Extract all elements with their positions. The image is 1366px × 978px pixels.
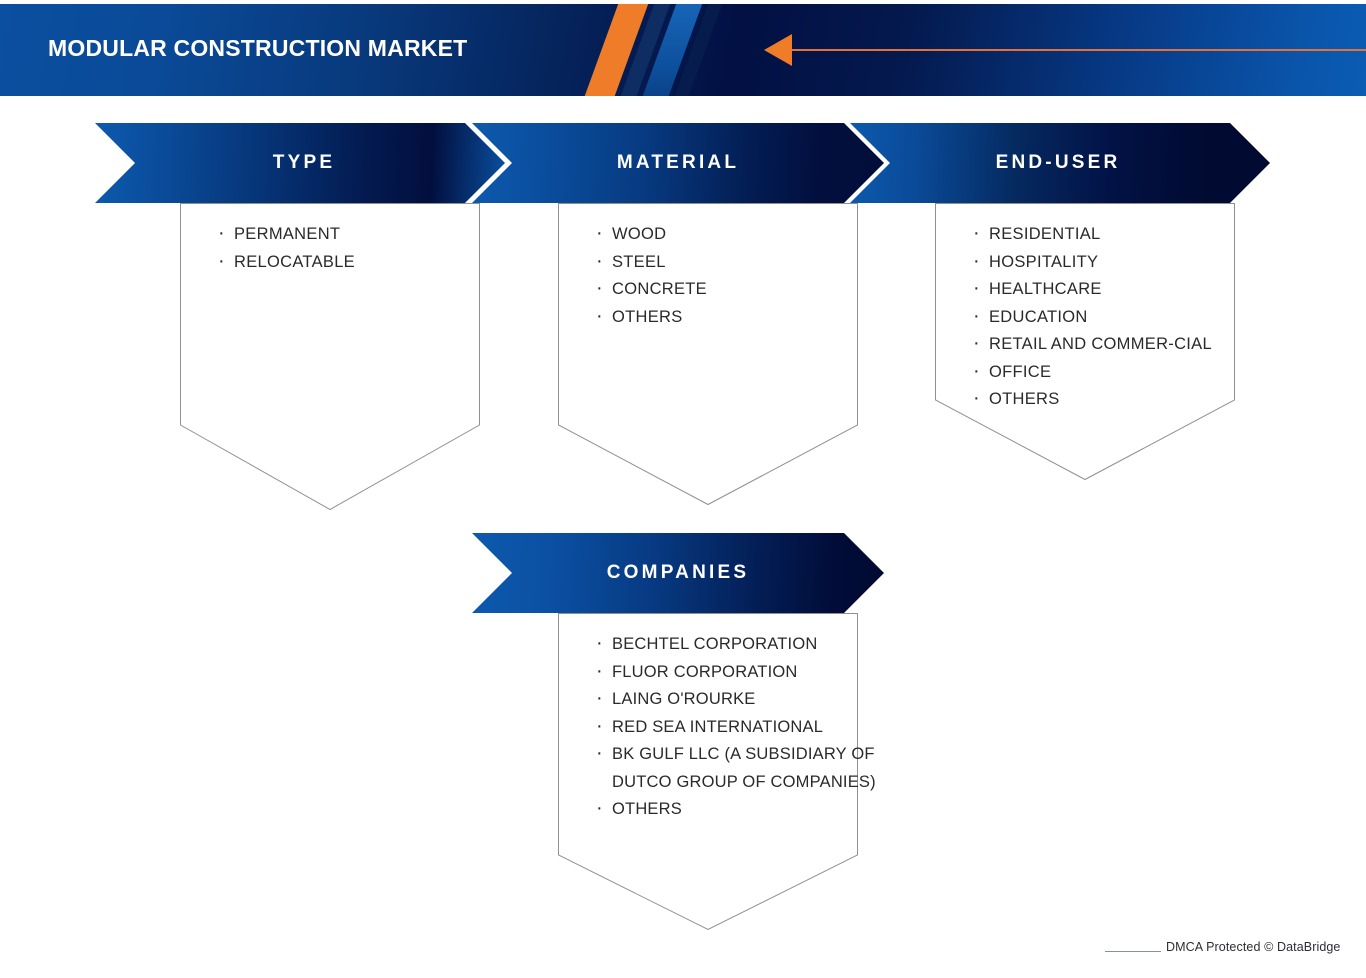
- list-item: HOSPITALITY: [967, 249, 1267, 277]
- header-accent-line: [790, 49, 1366, 51]
- page-title: MODULAR CONSTRUCTION MARKET: [48, 35, 467, 62]
- chevron-label-companies: COMPANIES: [607, 562, 749, 584]
- list-item: BK GULF LLC (A SUBSIDIARY OF DUTCO GROUP…: [590, 741, 890, 796]
- segment-list-end-user: RESIDENTIALHOSPITALITYHEALTHCAREEDUCATIO…: [967, 221, 1267, 414]
- list-item: OTHERS: [590, 796, 890, 824]
- list-item: RESIDENTIAL: [967, 221, 1267, 249]
- chevron-banner-companies[interactable]: COMPANIES: [472, 533, 884, 613]
- list-item: OFFICE: [967, 359, 1267, 387]
- list-item: CONCRETE: [590, 276, 890, 304]
- chevron-banner-type[interactable]: TYPE: [95, 123, 505, 203]
- segment-box-companies: BECHTEL CORPORATIONFLUOR CORPORATIONLAIN…: [558, 613, 858, 930]
- list-item: OTHERS: [590, 304, 890, 332]
- list-item: LAING O'ROURKE: [590, 686, 890, 714]
- segment-list-type: PERMANENTRELOCATABLE: [212, 221, 512, 276]
- footer-copyright: DMCA Protected © DataBridge: [1166, 940, 1340, 954]
- chevron-label-type: TYPE: [273, 152, 335, 174]
- list-item: OTHERS: [967, 386, 1267, 414]
- list-item: RETAIL AND COMMER-CIAL: [967, 331, 1267, 359]
- segment-box-material: WOODSTEELCONCRETEOTHERS: [558, 203, 858, 505]
- segment-box-type: PERMANENTRELOCATABLE: [180, 203, 480, 510]
- list-item: BECHTEL CORPORATION: [590, 631, 890, 659]
- list-item: EDUCATION: [967, 304, 1267, 332]
- chevron-label-material: MATERIAL: [617, 152, 739, 174]
- segment-box-end-user: RESIDENTIALHOSPITALITYHEALTHCAREEDUCATIO…: [935, 203, 1235, 480]
- list-item: RELOCATABLE: [212, 249, 512, 277]
- list-item: STEEL: [590, 249, 890, 277]
- list-item: PERMANENT: [212, 221, 512, 249]
- list-item: RED SEA INTERNATIONAL: [590, 714, 890, 742]
- segment-list-material: WOODSTEELCONCRETEOTHERS: [590, 221, 890, 331]
- left-arrow-icon: [764, 34, 792, 66]
- list-item: FLUOR CORPORATION: [590, 659, 890, 687]
- header-banner: MODULAR CONSTRUCTION MARKET: [0, 4, 1366, 96]
- chevron-banner-end-user[interactable]: END-USER: [850, 123, 1270, 203]
- chevron-banner-material[interactable]: MATERIAL: [472, 123, 884, 203]
- segment-list-companies: BECHTEL CORPORATIONFLUOR CORPORATIONLAIN…: [590, 631, 890, 824]
- list-item: HEALTHCARE: [967, 276, 1267, 304]
- chevron-label-end-user: END-USER: [996, 152, 1121, 174]
- footer-divider: [1105, 951, 1161, 952]
- list-item: WOOD: [590, 221, 890, 249]
